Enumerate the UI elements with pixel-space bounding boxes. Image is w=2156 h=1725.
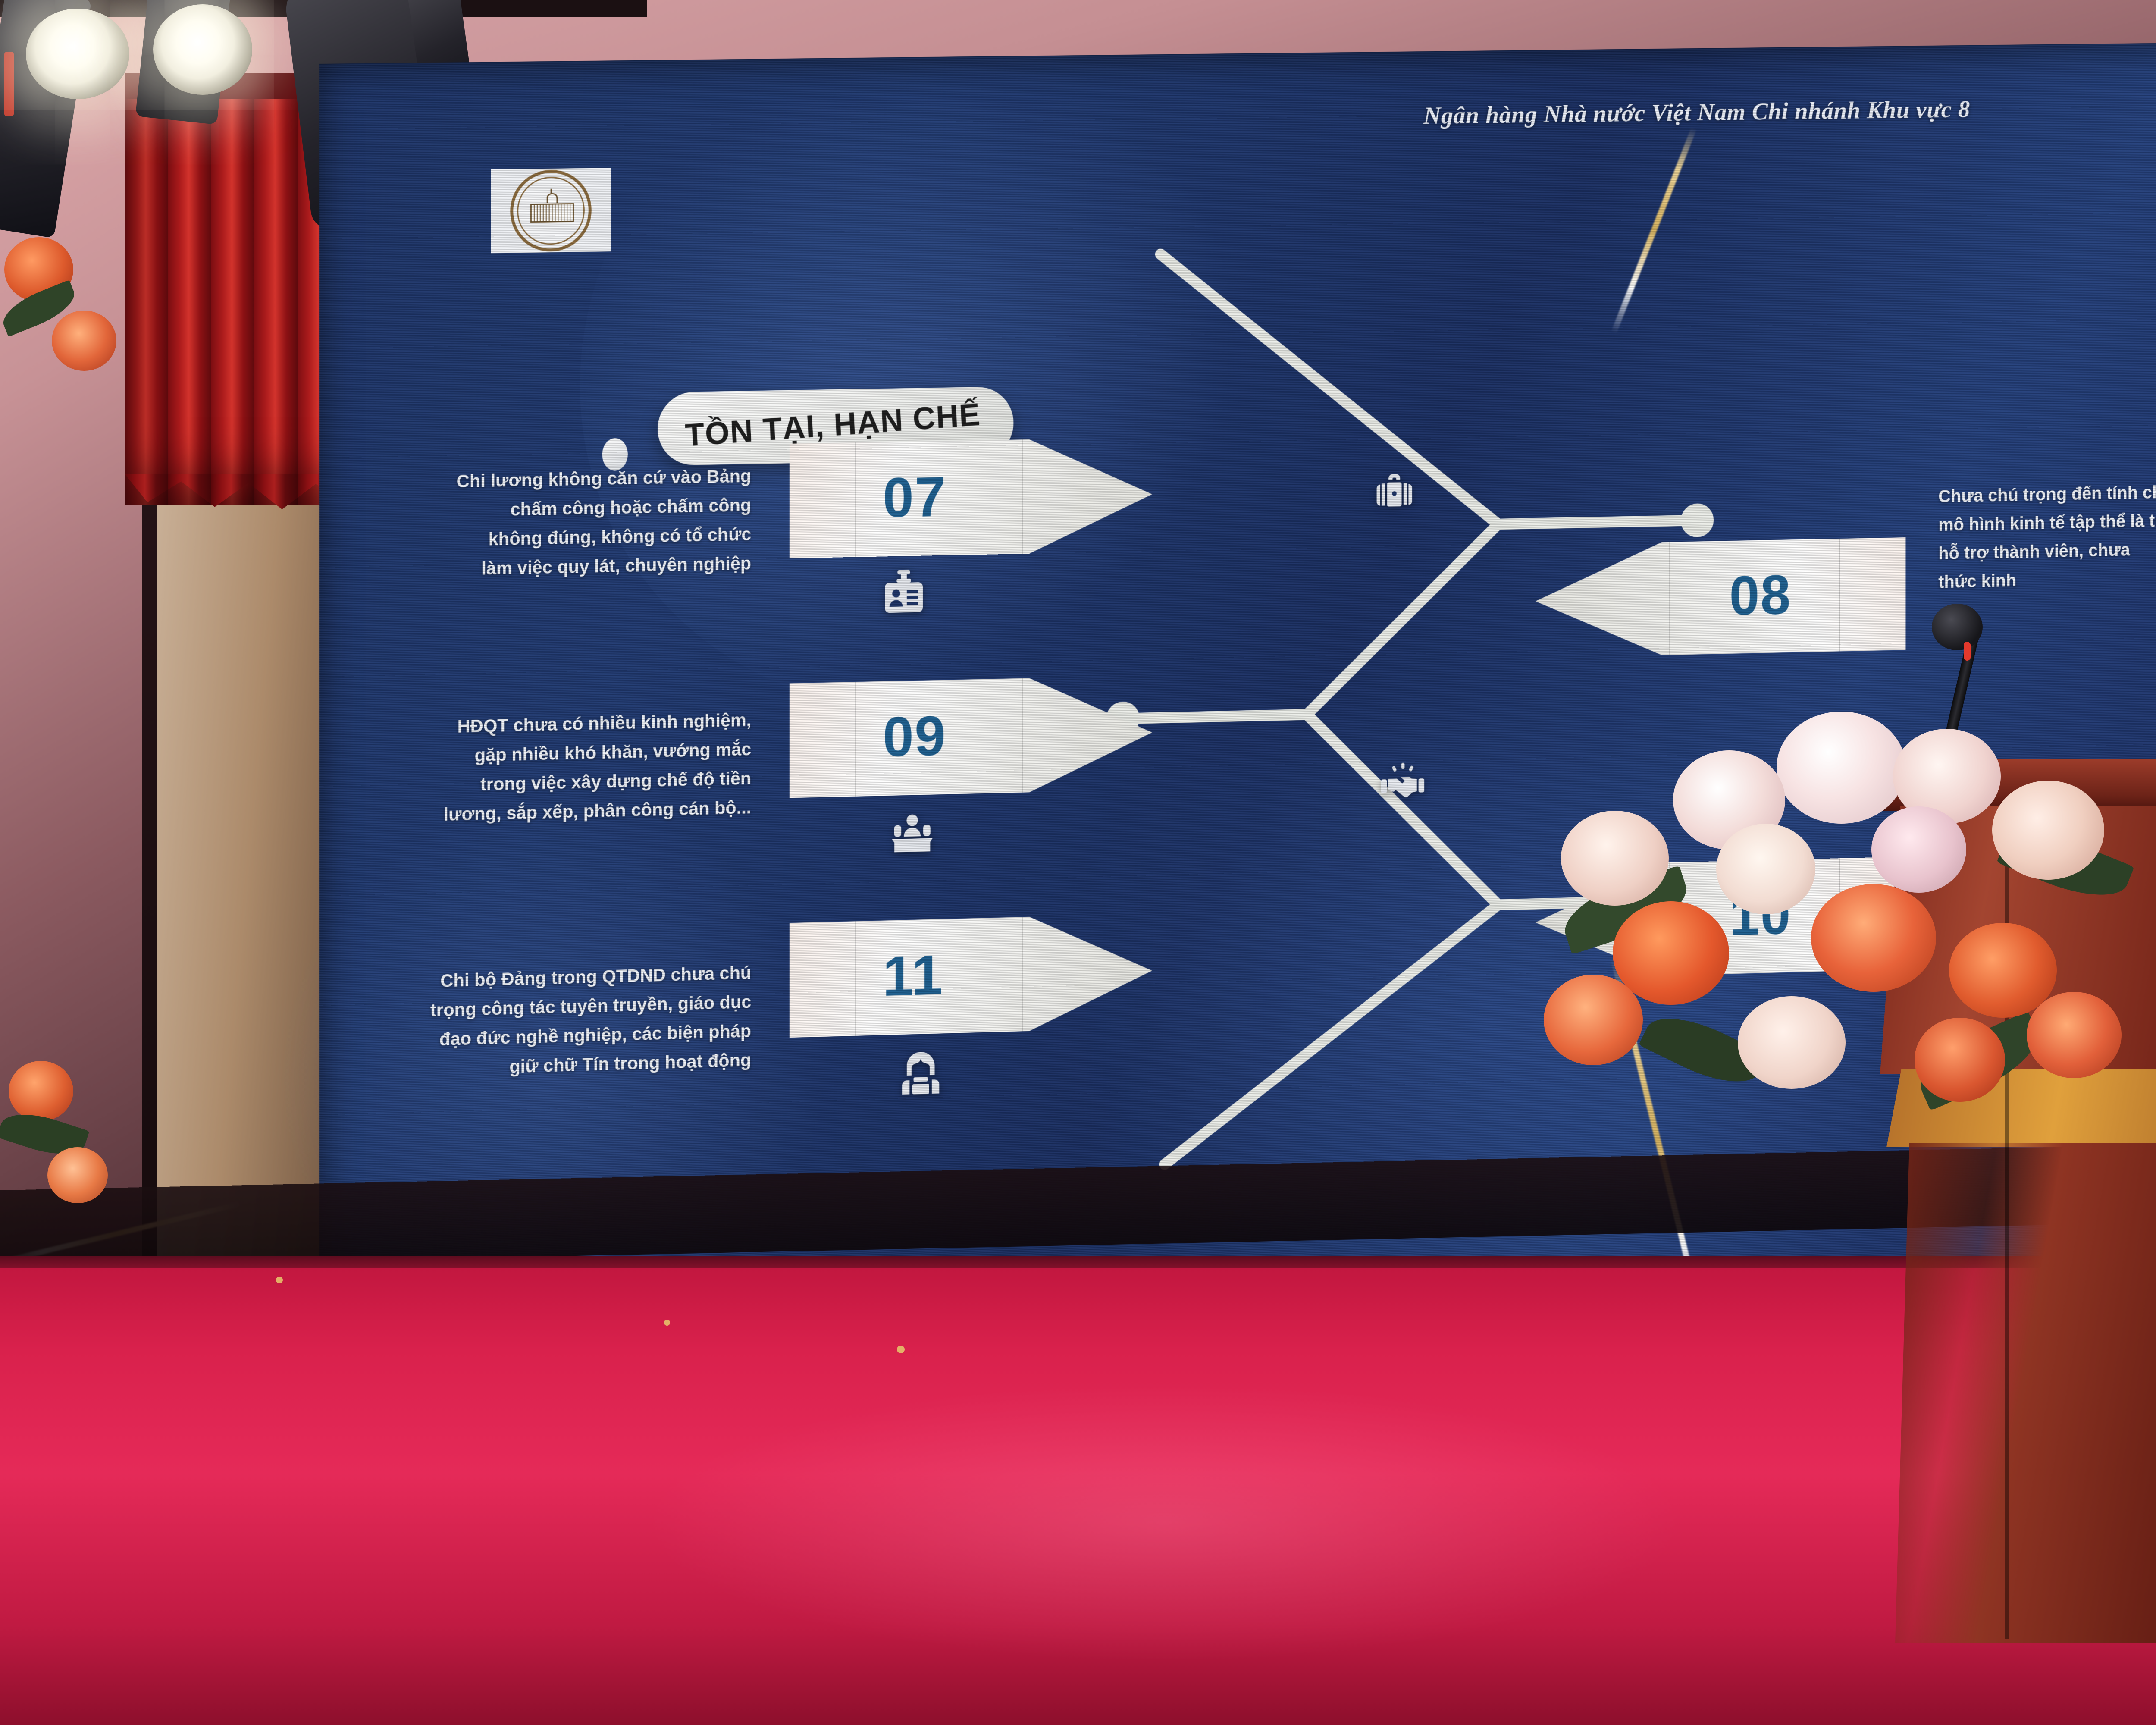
microphone-head xyxy=(1932,604,1983,650)
seal-building-icon xyxy=(530,199,571,223)
gold-accent-line-top xyxy=(1611,127,1697,333)
slide-header: Ngân hàng Nhà nước Việt Nam Chi nhánh Kh… xyxy=(1423,93,2142,130)
item-07-text: Chi lương không căn cứ vào Bảng chấm côn… xyxy=(319,461,751,586)
stage-light-lens-1 xyxy=(26,9,129,99)
briefcase-icon xyxy=(1369,467,1420,521)
id-badge-icon xyxy=(878,567,929,621)
handshake-icon xyxy=(1378,759,1428,813)
banner-11: 11 xyxy=(790,914,1152,1038)
carpet-highlight xyxy=(604,1371,1725,1673)
slide-logo xyxy=(491,168,611,253)
person-figure-icon xyxy=(895,1047,946,1102)
banner-08: 08 xyxy=(1536,537,1906,658)
podium-lower-panel xyxy=(1895,1143,2156,1643)
stage-light-lens-2 xyxy=(153,4,252,95)
banner-number-08: 08 xyxy=(1730,563,1792,627)
stage-light-indicator-1 xyxy=(4,52,14,116)
board-of-directors-icon xyxy=(887,806,938,861)
item-09-text: HĐQT chưa có nhiều kinh nghiệm, gặp nhiề… xyxy=(319,706,751,832)
microphone-led xyxy=(1964,642,1971,661)
podium-flower-arrangement xyxy=(1535,699,2139,1156)
screenshot-root: Ngân hàng Nhà nước Việt Nam Chi nhánh Kh… xyxy=(0,0,2156,1725)
banner-number-07: 07 xyxy=(883,464,946,530)
confetti-dot xyxy=(276,1276,283,1283)
confetti-dot xyxy=(664,1320,670,1326)
banner-09: 09 xyxy=(790,675,1152,798)
item-11-text: Chi bộ Đảng trong QTDND chưa chú trọng c… xyxy=(319,958,751,1087)
banner-07: 07 xyxy=(790,437,1152,558)
banner-number-09: 09 xyxy=(883,704,946,770)
left-floral-decor xyxy=(0,207,142,1199)
state-bank-seal-icon xyxy=(510,169,591,252)
confetti-dot xyxy=(897,1345,905,1353)
banner-number-11: 11 xyxy=(883,943,943,1009)
